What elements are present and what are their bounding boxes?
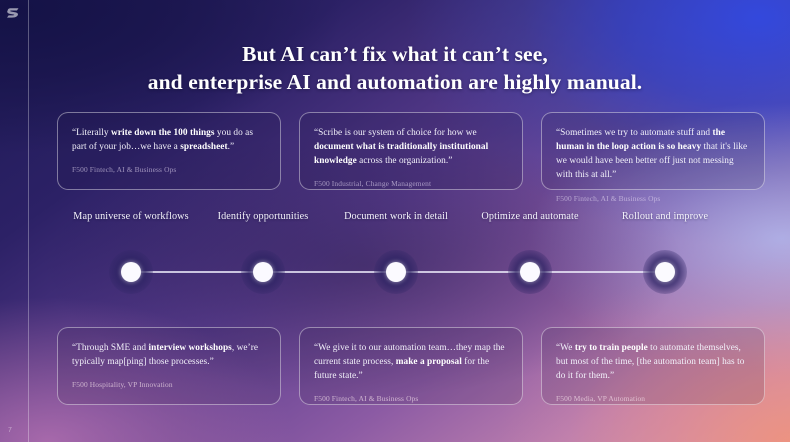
quote-card-bottom-2: “We give it to our automation team…they … [299,327,523,405]
quote-text: “We try to train people to automate them… [556,341,750,383]
timeline-step-label: Identify opportunities [188,210,338,224]
scribe-logo-icon [6,7,21,20]
quote-card-bottom-1: “Through SME and interview workshops, we… [57,327,281,405]
quote-attribution: F500 Industrial, Change Management [314,179,508,189]
timeline-step-5[interactable]: Rollout and improve [590,210,740,224]
quote-card-top-3: “Sometimes we try to automate stuff and … [541,112,765,190]
timeline-step-label: Rollout and improve [590,210,740,224]
timeline-step-4[interactable]: Optimize and automate [455,210,605,224]
timeline-step-2[interactable]: Identify opportunities [188,210,338,224]
page-title: But AI can’t fix what it can’t see, and … [0,40,790,97]
timeline-step-label: Document work in detail [321,210,471,224]
timeline-step-1[interactable]: Map universe of workflows [56,210,206,224]
quote-attribution: F500 Fintech, AI & Business Ops [314,394,508,404]
timeline-node-icon [643,250,687,294]
quote-attribution: F500 Media, VP Automation [556,394,750,404]
timeline-node-icon [109,250,153,294]
timeline-step-3[interactable]: Document work in detail [321,210,471,224]
quote-text: “Literally write down the 100 things you… [72,126,266,154]
timeline-step-label: Optimize and automate [455,210,605,224]
timeline-step-label: Map universe of workflows [56,210,206,224]
quote-attribution: F500 Hospitality, VP Innovation [72,380,266,390]
page-number: 7 [8,427,12,434]
title-line-2: and enterprise AI and automation are hig… [0,68,790,96]
quote-attribution: F500 Fintech, AI & Business Ops [556,194,750,204]
slide-canvas: 7 But AI can’t fix what it can’t see, an… [0,0,790,442]
timeline-node-icon [508,250,552,294]
quote-attribution: F500 Fintech, AI & Business Ops [72,165,266,175]
quote-text: “We give it to our automation team…they … [314,341,508,383]
timeline-node-icon [374,250,418,294]
quote-card-top-2: “Scribe is our system of choice for how … [299,112,523,190]
quote-text: “Scribe is our system of choice for how … [314,126,508,168]
title-line-1: But AI can’t fix what it can’t see, [242,42,548,66]
quote-text: “Sometimes we try to automate stuff and … [556,126,750,183]
quote-card-top-1: “Literally write down the 100 things you… [57,112,281,190]
quote-text: “Through SME and interview workshops, we… [72,341,266,369]
timeline-node-icon [241,250,285,294]
process-timeline: Map universe of workflows Identify oppor… [0,210,790,310]
quote-card-bottom-3: “We try to train people to automate them… [541,327,765,405]
